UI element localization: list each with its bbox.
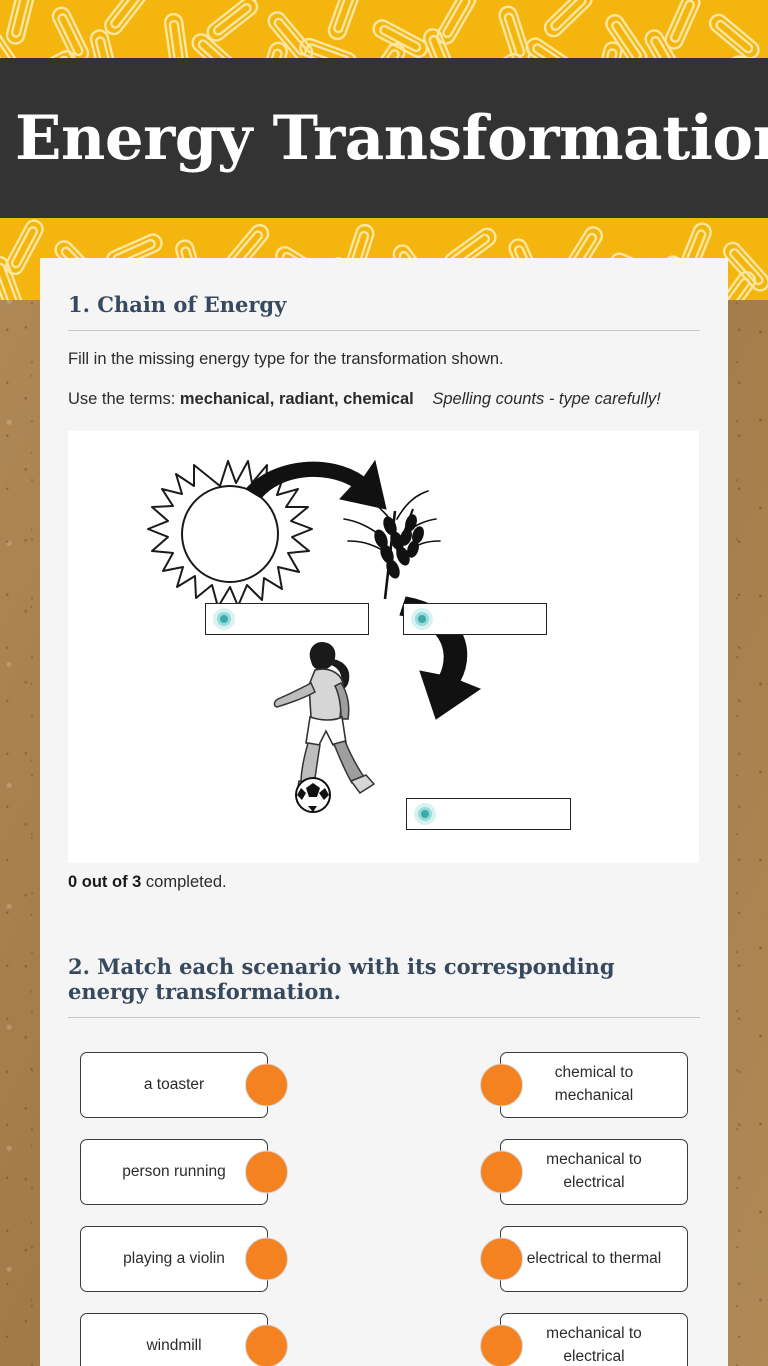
worksheet-sheet: 1. Chain of Energy Fill in the missing e… [40,258,728,1366]
cursor-indicator-icon [414,803,436,825]
scenario-card-2[interactable]: person running [80,1139,268,1205]
transformation-card-1[interactable]: chemical to mechanical [500,1052,688,1118]
match-row: person running mechanical to electrical [68,1139,700,1205]
transformation-card-2[interactable]: mechanical to electrical [500,1139,688,1205]
question-2-section: 2. Match each scenario with its correspo… [68,954,700,1366]
question-1-section: 1. Chain of Energy Fill in the missing e… [68,292,700,892]
page-title-banner: Energy Transformation [0,58,768,218]
energy-chain-diagram [68,431,699,863]
scenario-label: windmill [146,1335,201,1357]
question-2-divider [68,1017,700,1018]
sun-icon [148,461,312,607]
connector-dot-icon[interactable] [480,1150,523,1193]
connector-dot-icon[interactable] [480,1324,523,1366]
connector-dot-icon[interactable] [245,1150,288,1193]
connector-dot-icon[interactable] [480,1237,523,1280]
question-1-prompt: Fill in the missing energy type for the … [68,347,700,373]
transformation-label: mechanical to electrical [523,1323,665,1366]
matching-grid: a toaster chemical to mechanical person … [68,1034,700,1366]
cursor-indicator-icon [411,608,433,630]
page-title: Energy Transformation [0,108,768,169]
scenario-card-4[interactable]: windmill [80,1313,268,1366]
scenario-card-3[interactable]: playing a violin [80,1226,268,1292]
soccer-player-icon [274,642,374,812]
cursor-indicator-icon [213,608,235,630]
progress-suffix: completed. [141,873,226,891]
scenario-label: person running [122,1161,225,1183]
question-1-progress: 0 out of 3 completed. [68,873,700,892]
connector-dot-icon[interactable] [245,1324,288,1366]
scenario-card-1[interactable]: a toaster [80,1052,268,1118]
transformation-label: mechanical to electrical [523,1149,665,1194]
connector-dot-icon[interactable] [245,1063,288,1106]
connector-dot-icon[interactable] [480,1063,523,1106]
match-row: playing a violin electrical to thermal [68,1226,700,1292]
question-1-terms-line: Use the terms: mechanical, radiant, chem… [68,386,700,412]
transformation-label: chemical to mechanical [523,1062,665,1107]
transformation-label: electrical to thermal [527,1248,661,1270]
spelling-note: Spelling counts - type carefully! [418,390,660,408]
question-2-title: 2. Match each scenario with its correspo… [68,954,700,1017]
terms-list: mechanical, radiant, chemical [180,390,414,408]
question-1-title: 1. Chain of Energy [68,292,700,330]
match-row: windmill mechanical to electrical [68,1313,700,1366]
scenario-label: a toaster [144,1074,204,1096]
transformation-card-3[interactable]: electrical to thermal [500,1226,688,1292]
transformation-card-4[interactable]: mechanical to electrical [500,1313,688,1366]
question-1-divider [68,330,700,331]
connector-dot-icon[interactable] [245,1237,288,1280]
answer-box-1[interactable] [205,603,369,635]
progress-count: 0 out of 3 [68,873,141,891]
wheat-icon [344,491,440,599]
scenario-label: playing a violin [123,1248,225,1270]
answer-box-3[interactable] [406,798,571,830]
answer-box-2[interactable] [403,603,547,635]
match-row: a toaster chemical to mechanical [68,1052,700,1118]
terms-label: Use the terms: [68,390,175,408]
